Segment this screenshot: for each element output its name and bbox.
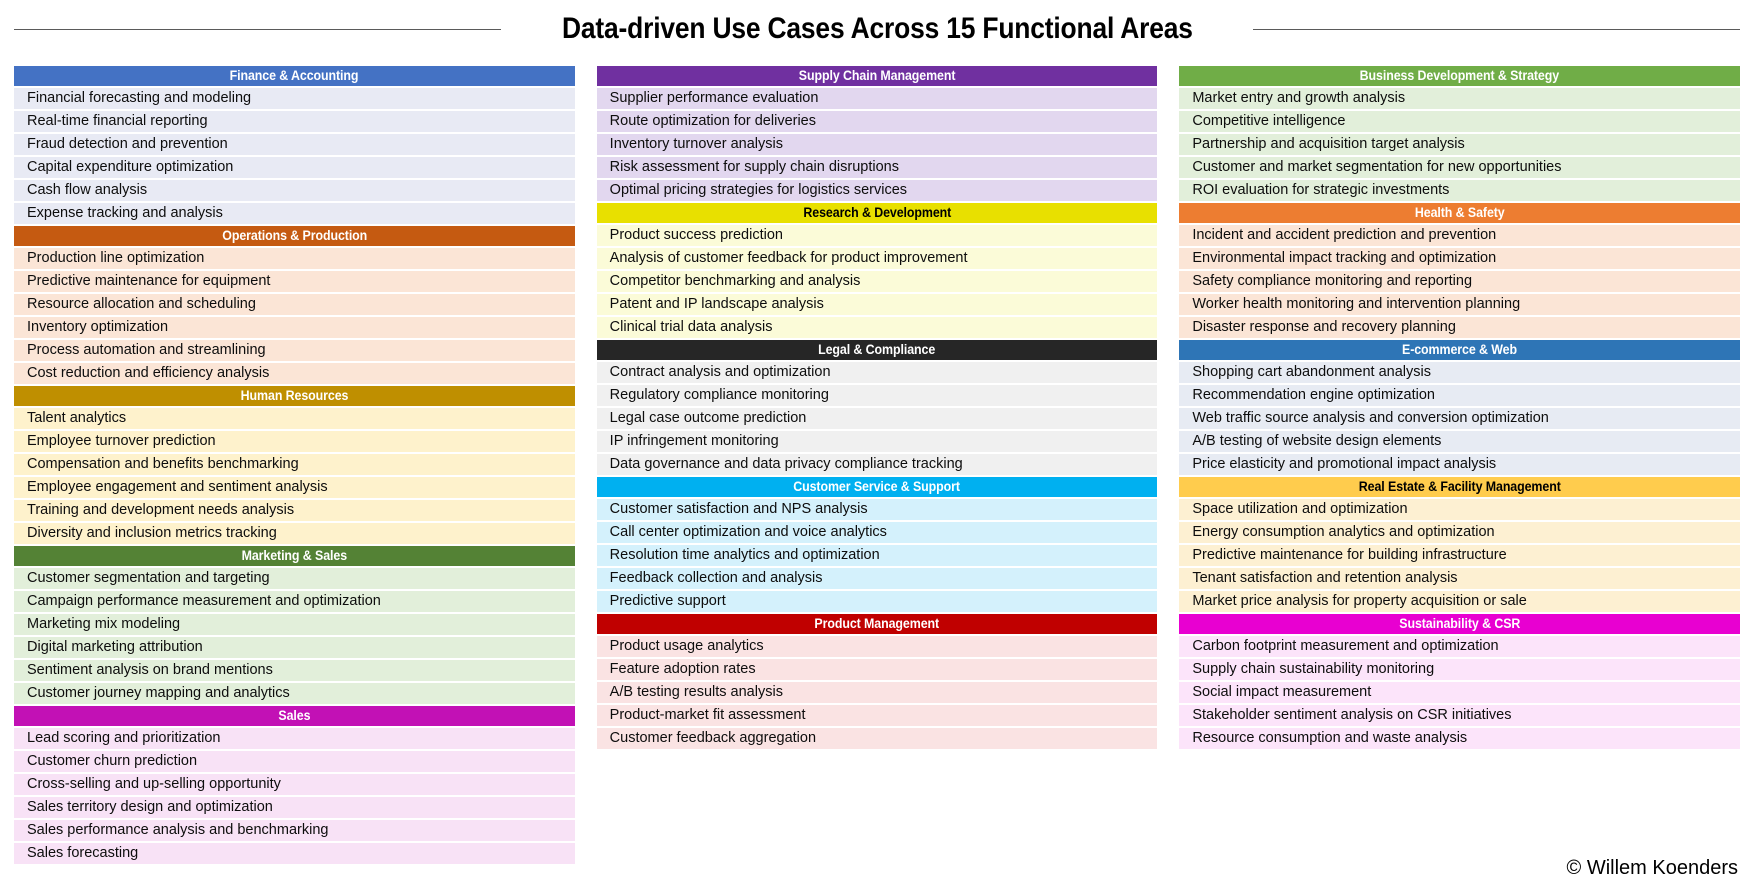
use-case-row: Predictive maintenance for equipment <box>14 271 575 292</box>
use-case-row: Safety compliance monitoring and reporti… <box>1179 271 1740 292</box>
section-header-label: Operations & Production <box>222 226 367 246</box>
use-case-row: Energy consumption analytics and optimiz… <box>1179 522 1740 543</box>
section-header-label: Real Estate & Facility Management <box>1359 477 1561 497</box>
use-case-row: Customer journey mapping and analytics <box>14 683 575 704</box>
use-case-row: Sentiment analysis on brand mentions <box>14 660 575 681</box>
use-case-row: Lead scoring and prioritization <box>14 728 575 749</box>
use-case-row: Data governance and data privacy complia… <box>597 454 1158 475</box>
use-case-row: IP infringement monitoring <box>597 431 1158 452</box>
use-case-row: A/B testing of website design elements <box>1179 431 1740 452</box>
use-case-row: Feature adoption rates <box>597 659 1158 680</box>
use-case-row: Stakeholder sentiment analysis on CSR in… <box>1179 705 1740 726</box>
use-case-row: Patent and IP landscape analysis <box>597 294 1158 315</box>
functional-area-section: Product ManagementProduct usage analytic… <box>597 614 1158 751</box>
use-case-row: Recommendation engine optimization <box>1179 385 1740 406</box>
use-case-row: Environmental impact tracking and optimi… <box>1179 248 1740 269</box>
section-header-label: Supply Chain Management <box>799 66 956 86</box>
use-case-row: Price elasticity and promotional impact … <box>1179 454 1740 475</box>
use-case-row: Optimal pricing strategies for logistics… <box>597 180 1158 201</box>
title-rule-left <box>14 29 501 30</box>
use-case-row: Inventory optimization <box>14 317 575 338</box>
section-header-label: E-commerce & Web <box>1402 340 1517 360</box>
use-case-row: Cash flow analysis <box>14 180 575 201</box>
use-case-row: Diversity and inclusion metrics tracking <box>14 523 575 544</box>
section-header: Sales <box>14 706 575 726</box>
use-case-row: Resource consumption and waste analysis <box>1179 728 1740 749</box>
section-header: Sustainability & CSR <box>1179 614 1740 634</box>
section-row-list: Product success predictionAnalysis of cu… <box>597 225 1158 338</box>
use-case-row: Digital marketing attribution <box>14 637 575 658</box>
section-row-list: Shopping cart abandonment analysisRecomm… <box>1179 362 1740 475</box>
section-header: Research & Development <box>597 203 1158 223</box>
use-case-row: Supplier performance evaluation <box>597 88 1158 109</box>
section-header-label: Legal & Compliance <box>818 340 935 360</box>
use-case-row: Disaster response and recovery planning <box>1179 317 1740 338</box>
section-header-label: Health & Safety <box>1415 203 1505 223</box>
use-case-row: Route optimization for deliveries <box>597 111 1158 132</box>
use-case-row: Customer churn prediction <box>14 751 575 772</box>
page-title: Data-driven Use Cases Across 15 Function… <box>562 12 1193 46</box>
page-title-bar: Data-driven Use Cases Across 15 Function… <box>0 0 1754 58</box>
section-row-list: Supplier performance evaluationRoute opt… <box>597 88 1158 201</box>
use-case-row: Carbon footprint measurement and optimiz… <box>1179 636 1740 657</box>
use-case-row: Customer and market segmentation for new… <box>1179 157 1740 178</box>
use-case-row: Training and development needs analysis <box>14 500 575 521</box>
functional-area-section: Human ResourcesTalent analyticsEmployee … <box>14 386 575 546</box>
use-case-row: Sales territory design and optimization <box>14 797 575 818</box>
use-case-row: Clinical trial data analysis <box>597 317 1158 338</box>
functional-area-section: E-commerce & WebShopping cart abandonmen… <box>1179 340 1740 477</box>
use-case-row: Risk assessment for supply chain disrupt… <box>597 157 1158 178</box>
section-row-list: Customer satisfaction and NPS analysisCa… <box>597 499 1158 612</box>
use-case-row: Regulatory compliance monitoring <box>597 385 1158 406</box>
section-header: Customer Service & Support <box>597 477 1158 497</box>
section-header: Business Development & Strategy <box>1179 66 1740 86</box>
use-case-row: Capital expenditure optimization <box>14 157 575 178</box>
section-header: Finance & Accounting <box>14 66 575 86</box>
use-case-row: Competitive intelligence <box>1179 111 1740 132</box>
use-case-row: Sales performance analysis and benchmark… <box>14 820 575 841</box>
section-header-label: Marketing & Sales <box>242 546 347 566</box>
functional-area-section: Supply Chain ManagementSupplier performa… <box>597 66 1158 203</box>
use-case-row: Call center optimization and voice analy… <box>597 522 1158 543</box>
use-case-row: Production line optimization <box>14 248 575 269</box>
use-case-row: Process automation and streamlining <box>14 340 575 361</box>
use-case-row: Contract analysis and optimization <box>597 362 1158 383</box>
section-row-list: Production line optimizationPredictive m… <box>14 248 575 384</box>
use-case-row: Campaign performance measurement and opt… <box>14 591 575 612</box>
copyright-credit: © Willem Koenders <box>1567 857 1738 880</box>
section-header-label: Product Management <box>815 614 940 634</box>
use-case-row: Competitor benchmarking and analysis <box>597 271 1158 292</box>
functional-area-section: Sustainability & CSRCarbon footprint mea… <box>1179 614 1740 751</box>
use-case-row: Web traffic source analysis and conversi… <box>1179 408 1740 429</box>
use-case-row: Inventory turnover analysis <box>597 134 1158 155</box>
use-case-row: Product success prediction <box>597 225 1158 246</box>
section-row-list: Space utilization and optimizationEnergy… <box>1179 499 1740 612</box>
functional-area-section: Health & SafetyIncident and accident pre… <box>1179 203 1740 340</box>
use-case-row: ROI evaluation for strategic investments <box>1179 180 1740 201</box>
use-case-row: Social impact measurement <box>1179 682 1740 703</box>
use-case-row: Customer feedback aggregation <box>597 728 1158 749</box>
use-case-row: Product usage analytics <box>597 636 1158 657</box>
section-row-list: Contract analysis and optimizationRegula… <box>597 362 1158 475</box>
use-case-row: Market price analysis for property acqui… <box>1179 591 1740 612</box>
use-case-row: Legal case outcome prediction <box>597 408 1158 429</box>
use-case-row: Customer satisfaction and NPS analysis <box>597 499 1158 520</box>
use-case-row: Supply chain sustainability monitoring <box>1179 659 1740 680</box>
use-case-row: Expense tracking and analysis <box>14 203 575 224</box>
section-row-list: Product usage analyticsFeature adoption … <box>597 636 1158 749</box>
use-case-row: Tenant satisfaction and retention analys… <box>1179 568 1740 589</box>
section-header: Human Resources <box>14 386 575 406</box>
section-header: Health & Safety <box>1179 203 1740 223</box>
use-case-row: Predictive support <box>597 591 1158 612</box>
use-case-row: Marketing mix modeling <box>14 614 575 635</box>
functional-area-section: Business Development & StrategyMarket en… <box>1179 66 1740 203</box>
functional-area-column: Supply Chain ManagementSupplier performa… <box>597 66 1158 751</box>
use-case-row: Employee turnover prediction <box>14 431 575 452</box>
functional-area-column: Finance & AccountingFinancial forecastin… <box>14 66 575 866</box>
functional-area-section: Operations & ProductionProduction line o… <box>14 226 575 386</box>
section-row-list: Financial forecasting and modelingReal-t… <box>14 88 575 224</box>
section-header: Legal & Compliance <box>597 340 1158 360</box>
use-case-row: Resource allocation and scheduling <box>14 294 575 315</box>
section-header: Marketing & Sales <box>14 546 575 566</box>
section-header: Real Estate & Facility Management <box>1179 477 1740 497</box>
use-case-row: Shopping cart abandonment analysis <box>1179 362 1740 383</box>
section-header-label: Sustainability & CSR <box>1399 614 1520 634</box>
section-header-label: Research & Development <box>803 203 951 223</box>
use-case-row: Real-time financial reporting <box>14 111 575 132</box>
section-header-label: Human Resources <box>240 386 348 406</box>
section-header: E-commerce & Web <box>1179 340 1740 360</box>
use-case-row: Partnership and acquisition target analy… <box>1179 134 1740 155</box>
section-header-label: Business Development & Strategy <box>1360 66 1559 86</box>
section-header: Supply Chain Management <box>597 66 1158 86</box>
title-rule-right <box>1253 29 1740 30</box>
use-case-row: Feedback collection and analysis <box>597 568 1158 589</box>
use-case-row: Cross-selling and up-selling opportunity <box>14 774 575 795</box>
use-case-row: Product-market fit assessment <box>597 705 1158 726</box>
use-case-row: A/B testing results analysis <box>597 682 1158 703</box>
section-row-list: Market entry and growth analysisCompetit… <box>1179 88 1740 201</box>
use-case-row: Worker health monitoring and interventio… <box>1179 294 1740 315</box>
use-case-row: Market entry and growth analysis <box>1179 88 1740 109</box>
section-row-list: Customer segmentation and targetingCampa… <box>14 568 575 704</box>
use-case-row: Resolution time analytics and optimizati… <box>597 545 1158 566</box>
use-case-row: Customer segmentation and targeting <box>14 568 575 589</box>
section-header-label: Customer Service & Support <box>794 477 961 497</box>
use-case-row: Fraud detection and prevention <box>14 134 575 155</box>
use-case-row: Predictive maintenance for building infr… <box>1179 545 1740 566</box>
section-row-list: Carbon footprint measurement and optimiz… <box>1179 636 1740 749</box>
section-row-list: Lead scoring and prioritizationCustomer … <box>14 728 575 864</box>
functional-areas-board: Finance & AccountingFinancial forecastin… <box>14 66 1740 846</box>
section-header: Product Management <box>597 614 1158 634</box>
section-header-label: Finance & Accounting <box>230 66 359 86</box>
functional-area-section: Legal & ComplianceContract analysis and … <box>597 340 1158 477</box>
use-case-row: Space utilization and optimization <box>1179 499 1740 520</box>
use-case-row: Analysis of customer feedback for produc… <box>597 248 1158 269</box>
functional-area-section: Marketing & SalesCustomer segmentation a… <box>14 546 575 706</box>
use-case-row: Incident and accident prediction and pre… <box>1179 225 1740 246</box>
functional-area-column: Business Development & StrategyMarket en… <box>1179 66 1740 751</box>
use-case-row: Compensation and benefits benchmarking <box>14 454 575 475</box>
section-header: Operations & Production <box>14 226 575 246</box>
section-row-list: Talent analyticsEmployee turnover predic… <box>14 408 575 544</box>
use-case-row: Financial forecasting and modeling <box>14 88 575 109</box>
use-case-row: Cost reduction and efficiency analysis <box>14 363 575 384</box>
functional-area-section: SalesLead scoring and prioritizationCust… <box>14 706 575 866</box>
functional-area-section: Customer Service & SupportCustomer satis… <box>597 477 1158 614</box>
functional-area-section: Finance & AccountingFinancial forecastin… <box>14 66 575 226</box>
section-row-list: Incident and accident prediction and pre… <box>1179 225 1740 338</box>
use-case-row: Employee engagement and sentiment analys… <box>14 477 575 498</box>
functional-area-section: Real Estate & Facility ManagementSpace u… <box>1179 477 1740 614</box>
use-case-row: Sales forecasting <box>14 843 575 864</box>
use-case-row: Talent analytics <box>14 408 575 429</box>
section-header-label: Sales <box>278 706 310 726</box>
functional-area-section: Research & DevelopmentProduct success pr… <box>597 203 1158 340</box>
